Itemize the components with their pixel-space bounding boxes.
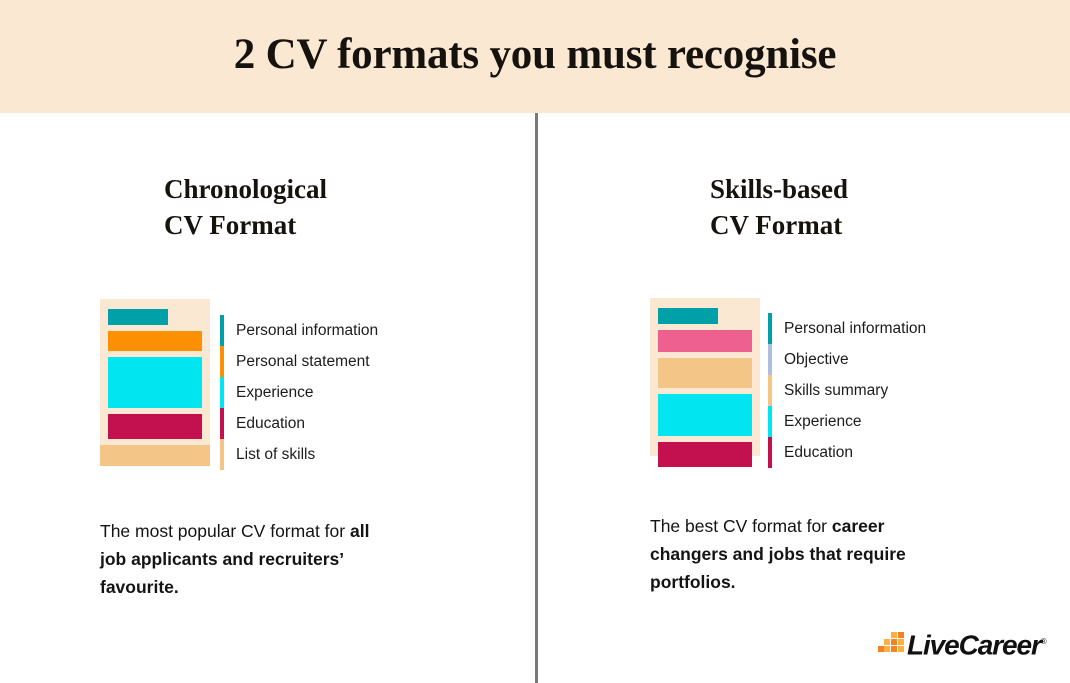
column-description: The most popular CV format for all job a… [100,517,390,601]
legend-swatch-icon [768,344,772,375]
legend-item: Objective [768,344,926,375]
legend-label: Personal information [784,320,926,338]
column-heading-line1: Skills-based [710,174,848,204]
legend-item: List of skills [220,439,378,470]
cv-diagram-chronological: Personal informationPersonal statementEx… [100,299,210,457]
column-heading-line2: CV Format [710,210,842,240]
cv-card [100,299,210,457]
infographic-page: 2 CV formats you must recognise Chronolo… [0,0,1070,683]
legend-item: Experience [220,377,378,408]
legend-label: Personal statement [236,353,370,371]
cv-bar-personal-information [108,309,168,325]
column-chronological: Chronological CV Format Personal informa… [0,113,535,683]
logo-square [891,639,897,645]
legend-label: Personal information [236,322,378,340]
logo-square [884,639,890,645]
legend-label: Education [784,444,853,462]
legend-swatch-icon [220,377,224,408]
livecareer-squares-icon [878,631,904,657]
cv-bar-education [658,442,752,467]
cv-bar-education [108,414,202,439]
legend-item: Skills summary [768,375,926,406]
legend-swatch-icon [768,375,772,406]
header-band: 2 CV formats you must recognise [0,0,1070,113]
legend: Personal informationPersonal statementEx… [220,315,378,470]
legend-item: Experience [768,406,926,437]
column-description: The best CV format for career changers a… [650,512,950,596]
legend-swatch-icon [768,406,772,437]
cv-card [650,298,760,456]
logo-square [891,632,897,638]
cv-bar-skills-summary [658,358,752,388]
description-emphasis: career changers and jobs that require po… [650,516,906,592]
description-emphasis: all job applicants and recruiters’ favou… [100,521,369,597]
legend-swatch-icon [220,408,224,439]
cv-bar-personal-statement [108,331,202,351]
legend-item: Education [220,408,378,439]
legend-label: Objective [784,351,849,369]
legend-swatch-icon [220,439,224,470]
logo-square [898,632,904,638]
cv-bar-experience [108,357,202,408]
legend-label: List of skills [236,446,315,464]
logo-square [891,646,897,652]
legend-label: Education [236,415,305,433]
cv-bar-personal-information [658,308,718,324]
legend-swatch-icon [768,313,772,344]
livecareer-wordmark: LiveCareer® [907,628,1046,659]
cv-diagram-skills-based: Personal informationObjectiveSkills summ… [650,298,760,456]
legend: Personal informationObjectiveSkills summ… [768,313,926,468]
legend-item: Personal information [220,315,378,346]
logo-square [898,639,904,645]
cv-bar-objective [658,330,752,352]
legend-label: Experience [784,413,862,431]
legend-swatch-icon [220,315,224,346]
legend-label: Skills summary [784,382,888,400]
logo-square [884,646,890,652]
page-title: 2 CV formats you must recognise [0,30,1070,79]
column-heading-line1: Chronological [164,174,327,204]
column-skills-based: Skills-based CV Format Personal informat… [538,113,1070,683]
legend-item: Personal information [768,313,926,344]
column-heading-line2: CV Format [164,210,296,240]
column-heading: Chronological CV Format [164,171,327,243]
logo-square [898,646,904,652]
livecareer-logo[interactable]: LiveCareer® [878,628,1046,659]
legend-swatch-icon [220,346,224,377]
column-heading: Skills-based CV Format [710,171,848,243]
legend-label: Experience [236,384,314,402]
trademark-symbol: ® [1041,637,1046,646]
cv-bar-list-of-skills [100,445,210,466]
cv-bar-experience [658,394,752,436]
legend-swatch-icon [768,437,772,468]
legend-item: Personal statement [220,346,378,377]
legend-item: Education [768,437,926,468]
